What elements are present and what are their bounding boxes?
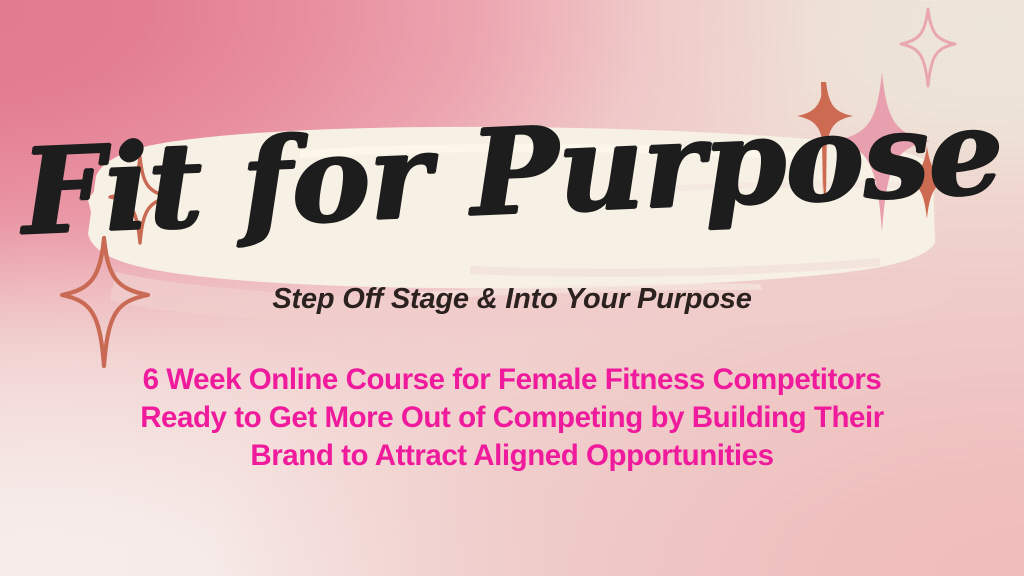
subtitle-tagline: Step Off Stage & Into Your Purpose: [0, 283, 1024, 316]
promo-poster: Fit for Purpose Step Off Stage & Into Yo…: [0, 0, 1024, 576]
headline-line-3: Brand to Attract Aligned Opportunities: [96, 437, 928, 475]
headline-line-1: 6 Week Online Course for Female Fitness …: [96, 361, 928, 399]
headline-line-2: Ready to Get More Out of Competing by Bu…: [96, 399, 928, 437]
headline-block: 6 Week Online Course for Female Fitness …: [96, 361, 928, 475]
